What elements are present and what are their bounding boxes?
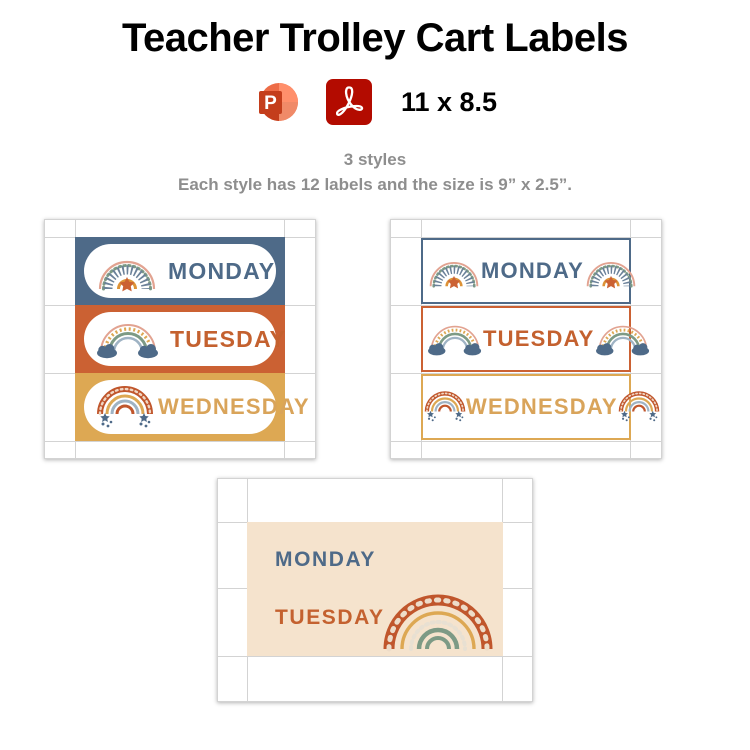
label-row-tuesday[interactable]: TUESDAY	[421, 306, 631, 372]
label-pill: MONDAY	[84, 244, 276, 298]
preview-cards-area: MONDAY	[0, 211, 750, 721]
label-pill: WEDNESDAY	[84, 380, 276, 434]
rainbow-cloud-icon	[427, 317, 483, 362]
big-boho-rainbow-icon	[379, 565, 497, 656]
preview-card-style-2[interactable]: MONDAY	[390, 219, 662, 459]
day-label-monday: MONDAY	[168, 258, 275, 285]
size-label: 11 x 8.5	[401, 89, 497, 116]
subtitle-line-2: Each style has 12 labels and the size is…	[0, 173, 750, 198]
rainbow-star-drop-icon	[96, 382, 154, 433]
page-title: Teacher Trolley Cart Labels	[0, 0, 750, 60]
rainbow-star-drop-icon	[618, 387, 660, 428]
file-format-row: P 11 x 8.5	[0, 72, 750, 132]
subtitle-block: 3 styles Each style has 12 labels and th…	[0, 148, 750, 197]
label-block-cream[interactable]: MONDAY TUESDAY	[247, 522, 503, 656]
day-label-tuesday: TUESDAY	[170, 326, 286, 353]
powerpoint-icon: P	[253, 76, 305, 128]
svg-text:P: P	[264, 93, 277, 114]
label-row-wednesday[interactable]: WEDNESDAY	[75, 373, 285, 441]
preview-card-style-3[interactable]: MONDAY TUESDAY	[217, 478, 533, 702]
label-row-tuesday[interactable]: TUESDAY	[75, 305, 285, 373]
day-label-wednesday: WEDNESDAY	[158, 394, 310, 420]
pdf-icon	[323, 76, 375, 128]
label-row-monday[interactable]: MONDAY	[75, 237, 285, 305]
label-pill: TUESDAY	[84, 312, 276, 366]
rainbow-star-icon	[427, 250, 481, 293]
rainbow-star-drop-icon	[424, 387, 466, 428]
day-label-monday: MONDAY	[481, 258, 584, 284]
day-label-tuesday: TUESDAY	[275, 606, 385, 630]
rainbow-star-icon	[584, 250, 638, 293]
day-label-tuesday: TUESDAY	[483, 326, 595, 352]
label-row-wednesday[interactable]: WEDNESDAY	[421, 374, 631, 440]
preview-card-style-1[interactable]: MONDAY	[44, 219, 316, 459]
rainbow-star-icon	[96, 247, 158, 296]
subtitle-line-1: 3 styles	[0, 148, 750, 173]
day-label-wednesday: WEDNESDAY	[466, 394, 618, 420]
label-row-monday[interactable]: MONDAY	[421, 238, 631, 304]
rainbow-cloud-icon	[595, 317, 651, 362]
day-label-monday: MONDAY	[275, 548, 376, 572]
rainbow-cloud-icon	[96, 314, 160, 365]
